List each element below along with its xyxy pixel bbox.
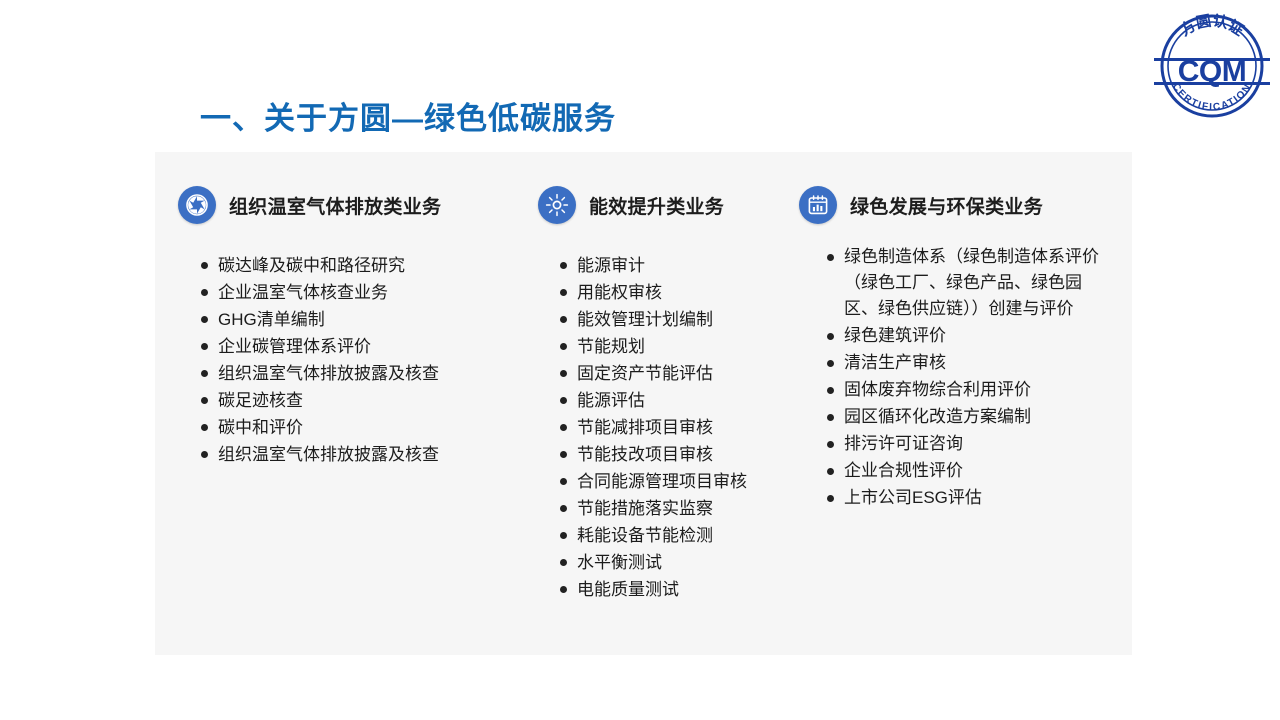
services-panel: 组织温室气体排放类业务 碳达峰及碳中和路径研究 企业温室气体核查业务 GHG清单… [155, 152, 1132, 655]
list-item: 节能减排项目审核 [560, 414, 791, 441]
list-item: 节能措施落实监察 [560, 495, 791, 522]
page-title: 一、关于方圆—绿色低碳服务 [200, 93, 616, 138]
services-list-ghg: 碳达峰及碳中和路径研究 企业温室气体核查业务 GHG清单编制 企业碳管理体系评价… [201, 252, 513, 468]
sun-brightness-icon [538, 186, 576, 224]
column-header-ghg: 组织温室气体排放类业务 [178, 186, 513, 224]
list-item: 固定资产节能评估 [560, 360, 791, 387]
list-item: GHG清单编制 [201, 306, 513, 333]
list-item: 园区循环化改造方案编制 [827, 404, 1132, 430]
list-item: 清洁生产审核 [827, 350, 1132, 376]
column-header-green: 绿色发展与环保类业务 [799, 186, 1132, 224]
column-heading-label: 绿色发展与环保类业务 [850, 192, 1043, 219]
services-column-green: 绿色发展与环保类业务 绿色制造体系（绿色制造体系评价（绿色工厂、绿色产品、绿色园… [791, 152, 1132, 512]
list-item: 水平衡测试 [560, 549, 791, 576]
list-item: 碳达峰及碳中和路径研究 [201, 252, 513, 279]
list-item: 固体废弃物综合利用评价 [827, 377, 1132, 403]
list-item: 企业合规性评价 [827, 458, 1132, 484]
list-item: 碳足迹核查 [201, 387, 513, 414]
list-item: 绿色建筑评价 [827, 323, 1132, 349]
list-item: 绿色制造体系（绿色制造体系评价（绿色工厂、绿色产品、绿色园区、绿色供应链））创建… [827, 244, 1104, 322]
list-item: 企业碳管理体系评价 [201, 333, 513, 360]
column-header-efficiency: 能效提升类业务 [538, 186, 791, 224]
list-item: 能源审计 [560, 252, 791, 279]
list-item: 耗能设备节能检测 [560, 522, 791, 549]
column-heading-label: 组织温室气体排放类业务 [229, 192, 441, 219]
list-item: 节能技改项目审核 [560, 441, 791, 468]
list-item: 能源评估 [560, 387, 791, 414]
list-item: 组织温室气体排放披露及核查 [201, 441, 513, 468]
list-item: 节能规划 [560, 333, 791, 360]
list-item: 合同能源管理项目审核 [560, 468, 791, 495]
column-heading-label: 能效提升类业务 [589, 192, 724, 219]
svg-text:CQM: CQM [1178, 55, 1247, 88]
list-item: 能效管理计划编制 [560, 306, 791, 333]
services-columns: 组织温室气体排放类业务 碳达峰及碳中和路径研究 企业温室气体核查业务 GHG清单… [155, 152, 1132, 655]
list-item: 电能质量测试 [560, 576, 791, 603]
services-list-green: 绿色制造体系（绿色制造体系评价（绿色工厂、绿色产品、绿色园区、绿色供应链））创建… [827, 244, 1132, 511]
calendar-chart-icon [799, 186, 837, 224]
list-item: 企业温室气体核查业务 [201, 279, 513, 306]
services-list-efficiency: 能源审计 用能权审核 能效管理计划编制 节能规划 固定资产节能评估 能源评估 节… [560, 252, 791, 603]
list-item: 碳中和评价 [201, 414, 513, 441]
list-item: 用能权审核 [560, 279, 791, 306]
services-column-efficiency: 能效提升类业务 能源审计 用能权审核 能效管理计划编制 节能规划 固定资产节能评… [513, 152, 791, 603]
aperture-icon [178, 186, 216, 224]
list-item: 上市公司ESG评估 [827, 485, 1132, 511]
cqm-certification-logo: 方圆认证 CERTIFICATION CQM [1152, 6, 1272, 126]
services-column-ghg: 组织温室气体排放类业务 碳达峰及碳中和路径研究 企业温室气体核查业务 GHG清单… [155, 152, 513, 468]
list-item: 排污许可证咨询 [827, 431, 1132, 457]
list-item: 组织温室气体排放披露及核查 [201, 360, 513, 387]
